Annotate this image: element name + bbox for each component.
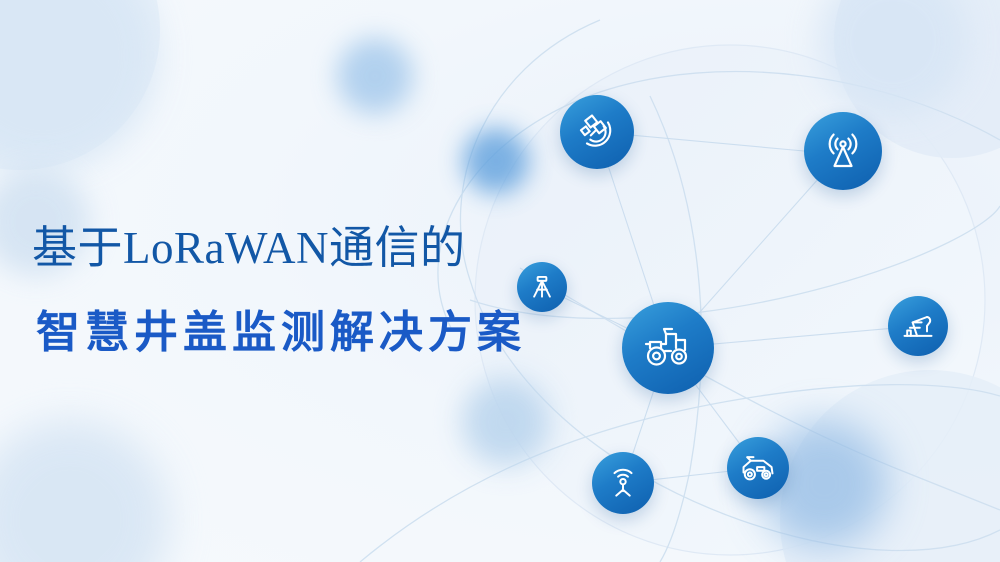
satellite-icon (576, 111, 618, 153)
oil-pumpjack-icon (900, 308, 936, 344)
harvester-icon (739, 449, 777, 487)
node-wifi-beacon[interactable] (592, 452, 654, 514)
corner-blob-topleft (0, 0, 160, 170)
title-line-1: 基于LoRaWAN通信的 (32, 226, 552, 271)
node-radio-tower[interactable] (804, 112, 882, 190)
node-oil-pumpjack[interactable] (888, 296, 948, 356)
radio-tower-icon (820, 128, 866, 174)
title-block: 基于LoRaWAN通信的 智慧井盖监测解决方案 (32, 226, 552, 355)
title-line-2: 智慧井盖监测解决方案 (36, 311, 552, 355)
wifi-beacon-icon (605, 465, 641, 501)
tractor-icon (640, 320, 696, 376)
title-slide: 基于LoRaWAN通信的 智慧井盖监测解决方案 (0, 0, 1000, 562)
node-tractor[interactable] (622, 302, 714, 394)
node-harvester[interactable] (727, 437, 789, 499)
node-satellite[interactable] (560, 95, 634, 169)
